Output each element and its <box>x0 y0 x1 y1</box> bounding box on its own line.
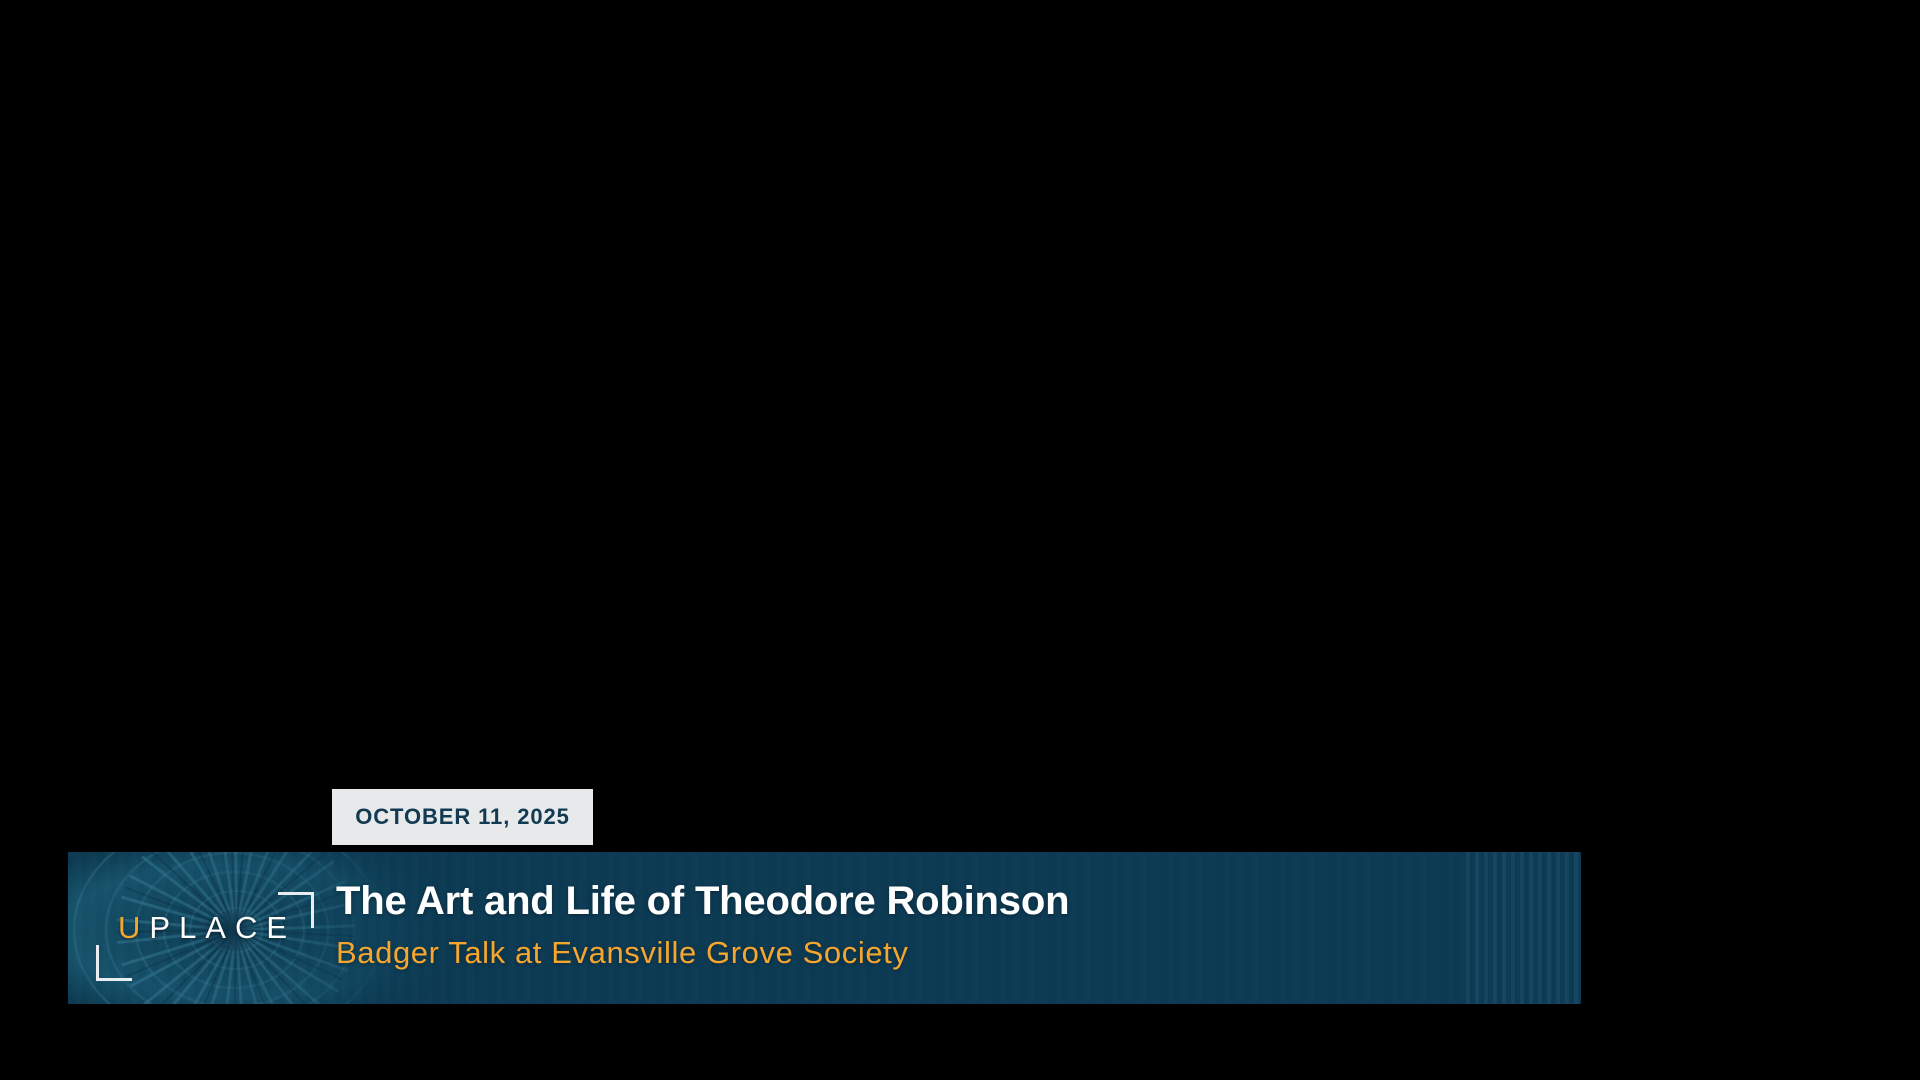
uplace-wordmark: UPLACE <box>118 912 296 943</box>
event-banner-canvas: OCTOBER 11, 2025 <box>0 0 1920 1080</box>
event-title: The Art and Life of Theodore Robinson <box>336 880 1069 922</box>
banner-stripe-texture-right <box>1461 852 1581 1004</box>
event-date-text: OCTOBER 11, 2025 <box>355 804 570 830</box>
wordmark-rest: PLACE <box>149 910 296 945</box>
event-date-badge: OCTOBER 11, 2025 <box>332 789 593 845</box>
event-subtitle: Badger Talk at Evansville Grove Society <box>336 936 908 970</box>
wordmark-accent-letter: U <box>118 910 149 945</box>
